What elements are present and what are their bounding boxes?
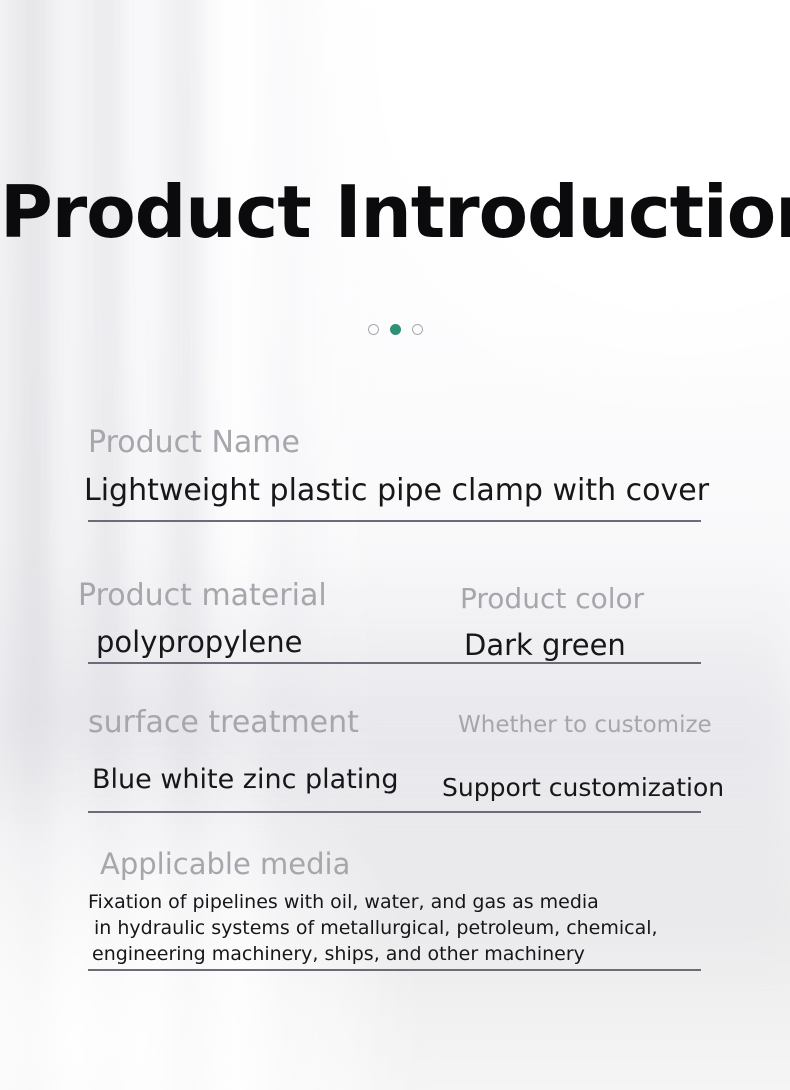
spec-label-product-name: Product Name <box>88 425 300 460</box>
carousel-dots[interactable] <box>0 324 790 335</box>
spec-value-product-color: Dark green <box>464 628 626 662</box>
spec-label-whether-to-customize: Whether to customize <box>458 712 712 738</box>
spec-label-product-color: Product color <box>460 582 644 615</box>
carousel-dot-1[interactable] <box>368 324 379 335</box>
spec-label-product-material: Product material <box>78 578 327 613</box>
carousel-dot-3[interactable] <box>412 324 423 335</box>
spec-value-product-material: polypropylene <box>96 625 303 659</box>
page-title: Product Introduction <box>0 174 790 250</box>
media-line-1: Fixation of pipelines with oil, water, a… <box>88 889 658 915</box>
media-line-2: in hydraulic systems of metallurgical, p… <box>88 915 658 941</box>
product-introduction-page: Product Introduction Product Name Lightw… <box>0 0 790 1090</box>
spec-label-applicable-media: Applicable media <box>100 847 350 881</box>
spec-value-surface-treatment: Blue white zinc plating <box>92 764 399 795</box>
spec-divider-1 <box>88 520 701 522</box>
spec-divider-2 <box>88 662 701 664</box>
media-line-3: engineering machinery, ships, and other … <box>88 941 658 967</box>
spec-value-product-name: Lightweight plastic pipe clamp with cove… <box>84 473 709 508</box>
spec-label-surface-treatment: surface treatment <box>88 705 359 740</box>
spec-value-applicable-media: Fixation of pipelines with oil, water, a… <box>88 889 658 967</box>
spec-value-whether-to-customize: Support customization <box>442 773 724 802</box>
carousel-dot-2-active[interactable] <box>390 324 401 335</box>
spec-divider-4 <box>88 969 701 971</box>
spec-divider-3 <box>88 811 701 813</box>
